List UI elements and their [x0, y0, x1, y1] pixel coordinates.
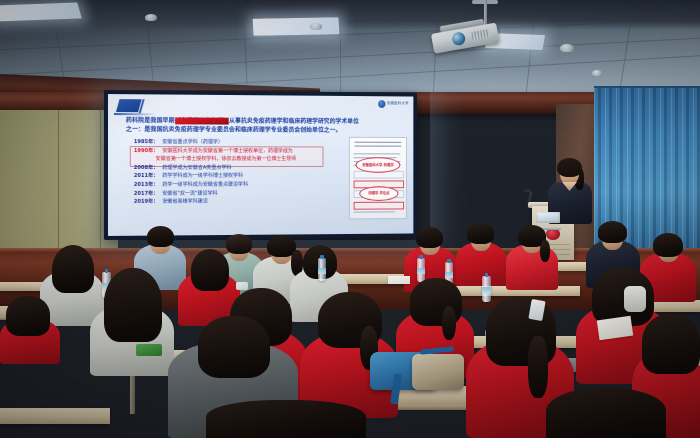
audience-member — [0, 300, 60, 364]
timeline-row: 安徽省第一个博士授权学科，徐叔云教授成为第一位博士生导师 — [134, 155, 318, 164]
slide-title: 药科院是我国早期（上世纪八十年代）从事抗炎免疫药理学和临床药理学研究的学术单位 … — [126, 116, 402, 135]
slide-title-part-a: 药科院是我国早期 — [126, 117, 175, 124]
audience-member — [456, 226, 506, 286]
water-bottle — [482, 276, 491, 302]
audience-member — [546, 388, 666, 438]
dome-camera-2 — [310, 23, 322, 30]
slide-title-red: （上世纪八十年代） — [175, 117, 229, 124]
slide-timeline-list: 1985年： 安徽省重点学科（药理学） 1990年： 安徽医科大学成为安徽省第一… — [134, 138, 318, 207]
audience-member — [206, 400, 366, 438]
thumbnail-header — [355, 142, 402, 150]
green-package — [136, 344, 162, 356]
dome-camera-1 — [145, 14, 157, 21]
logo-mark-icon — [378, 100, 385, 108]
timeline-row: 2008年： 药理学成为安徽省A类重点学科 — [134, 164, 318, 173]
logo-text: 安徽医科大学 — [387, 102, 409, 106]
dome-camera-3 — [560, 44, 574, 52]
timeline-row: 1990年： 安徽医科大学成为安徽省第一个博士授权单位，药理学成为 — [134, 147, 318, 156]
slide-decoration — [114, 98, 158, 115]
dome-camera-4 — [592, 70, 602, 76]
student-desk — [0, 408, 110, 424]
audience-member — [90, 272, 174, 376]
lecture-hall-photo: 安徽医科大学 药科院是我国早期（上世纪八十年代）从事抗炎免疫药理学和临床药理学研… — [0, 0, 700, 438]
callout-2: 药理学 学位点 — [359, 186, 398, 201]
projection-screen: 安徽医科大学 药科院是我国早期（上世纪八十年代）从事抗炎免疫药理学和临床药理学研… — [104, 90, 417, 240]
timeline-row: 1985年： 安徽省重点学科（药理学） — [134, 138, 318, 147]
slide-surface: 安徽医科大学 药科院是我国早期（上世纪八十年代）从事抗炎免疫药理学和临床药理学研… — [108, 94, 413, 236]
light-panel-1 — [0, 2, 82, 21]
document-thumbnail: 安徽医科大学 药理学 药理学 学位点 — [349, 137, 407, 220]
water-bottle — [417, 258, 425, 282]
hair-clip — [624, 286, 646, 312]
slide-title-line2: 之一：是我国抗炎免疫药理学专业委员会和临床药理学专业委员会创始单位之一。 — [126, 125, 402, 135]
light-panel-2 — [253, 17, 340, 36]
ceiling-shadow — [0, 0, 700, 30]
university-logo: 安徽医科大学 — [378, 100, 409, 108]
audience-member — [506, 228, 558, 290]
left-wall-panel — [0, 110, 118, 256]
tan-tote-bag — [412, 354, 464, 390]
water-bottle — [318, 258, 326, 281]
callout-1: 安徽医科大学 药理学 — [356, 157, 401, 173]
phone — [236, 282, 248, 290]
timeline-row: 2011年： 药学学科成为一级学科博士授权学科 — [134, 172, 318, 181]
slide-title-part-b: 从事抗炎免疫药理学和临床药理学研究的学术单位 — [229, 118, 359, 126]
timeline-row: 2019年： 安徽省高峰学科建设 — [134, 197, 318, 206]
